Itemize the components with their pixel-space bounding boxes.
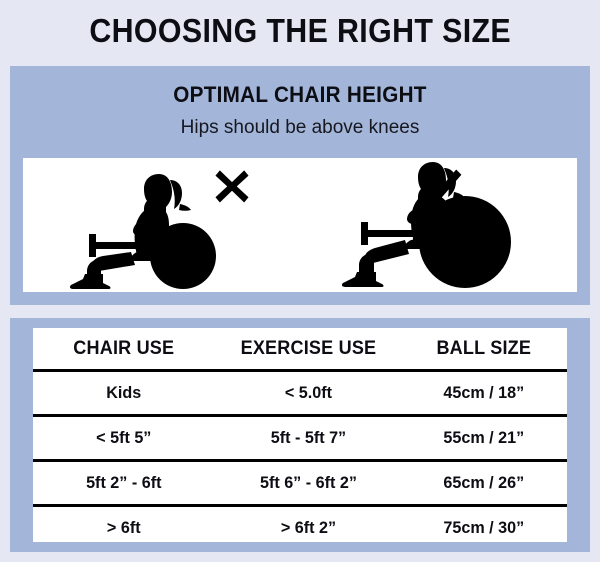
column-header-ball-size: BALL SIZE	[406, 328, 563, 371]
table-row: 5ft 2” - 6ft 5ft 6” - 6ft 2” 65cm / 26”	[33, 461, 567, 506]
column-header-exercise-use: EXERCISE USE	[219, 328, 397, 371]
cell-chair-use: < 5ft 5”	[38, 416, 210, 461]
illustration-inner	[23, 158, 577, 292]
size-table-box: CHAIR USE EXERCISE USE BALL SIZE Kids < …	[33, 328, 567, 542]
illustration-box	[23, 158, 577, 292]
cell-chair-use: 5ft 2” - 6ft	[38, 461, 210, 506]
size-table-panel: CHAIR USE EXERCISE USE BALL SIZE Kids < …	[10, 318, 590, 552]
infographic-root: CHOOSING THE RIGHT SIZE OPTIMAL CHAIR HE…	[0, 0, 600, 562]
table-row: < 5ft 5” 5ft - 5ft 7” 55cm / 21”	[33, 416, 567, 461]
cell-exercise-use: < 5.0ft	[219, 371, 397, 416]
table-header-row: CHAIR USE EXERCISE USE BALL SIZE	[33, 328, 567, 371]
column-header-chair-use: CHAIR USE	[38, 328, 210, 371]
cell-exercise-use: 5ft - 5ft 7”	[219, 416, 397, 461]
page-title: CHOOSING THE RIGHT SIZE	[89, 12, 511, 50]
optimal-chair-height-panel: OPTIMAL CHAIR HEIGHT Hips should be abov…	[10, 66, 590, 305]
incorrect-posture-figure	[35, 164, 275, 290]
page-title-bar: CHOOSING THE RIGHT SIZE	[0, 0, 600, 62]
cell-ball-size: 55cm / 21”	[406, 416, 563, 461]
chair-panel-subheading: Hips should be above knees	[10, 108, 590, 139]
table-row: > 6ft > 6ft 2” 75cm / 30”	[33, 506, 567, 550]
cell-chair-use: > 6ft	[38, 506, 210, 550]
incorrect-posture-group	[35, 158, 305, 292]
cell-ball-size: 65cm / 26”	[406, 461, 563, 506]
cell-ball-size: 75cm / 30”	[406, 506, 563, 550]
ball-size-table: CHAIR USE EXERCISE USE BALL SIZE Kids < …	[33, 328, 567, 549]
cell-exercise-use: 5ft 6” - 6ft 2”	[219, 461, 397, 506]
correct-posture-group	[305, 158, 575, 292]
correct-posture-figure	[305, 158, 555, 290]
cell-ball-size: 45cm / 18”	[406, 371, 563, 416]
table-row: Kids < 5.0ft 45cm / 18”	[33, 371, 567, 416]
cell-exercise-use: > 6ft 2”	[219, 506, 397, 550]
chair-panel-heading: OPTIMAL CHAIR HEIGHT	[27, 66, 572, 108]
cell-chair-use: Kids	[38, 371, 210, 416]
